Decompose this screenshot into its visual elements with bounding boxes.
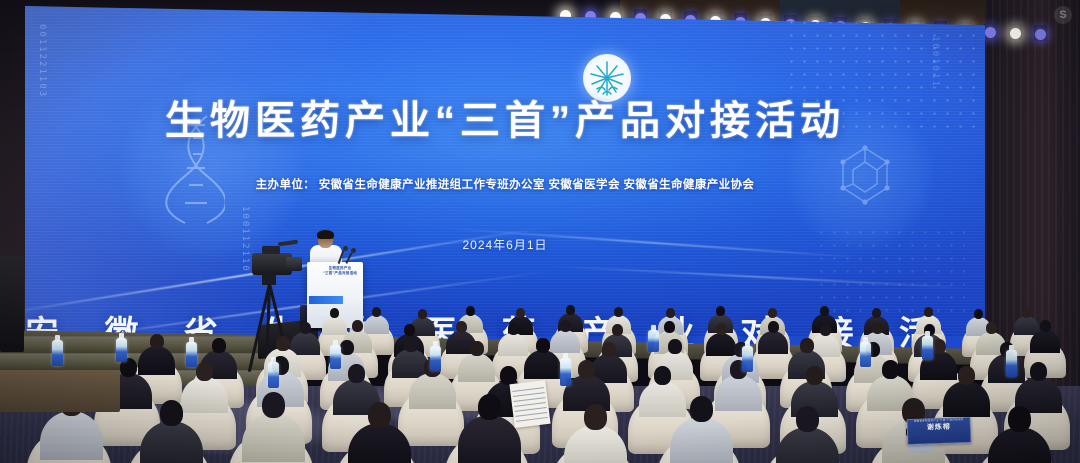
audience-member-head [352,320,363,332]
audience-member-head [820,324,831,336]
audience-member-torso [322,316,347,335]
audience-member-head [566,305,575,315]
audience-member-head [508,323,519,335]
audience-member-head [262,392,285,418]
handout-text-line [512,387,544,392]
audience-member-head [500,366,517,385]
handout-text-line [516,417,548,422]
audience-member-head [578,360,595,379]
audience-member-torso [409,373,456,409]
audience-member-head [800,338,814,353]
audience-member-head [872,322,883,334]
audience-member-head [418,309,427,319]
water-bottle [860,342,871,367]
audience-member-torso [1030,330,1060,353]
handout-text-line [514,402,546,407]
audience-member-head [668,339,682,354]
audience-member-head [560,320,571,332]
audience-member-head [404,337,418,352]
audience-member-head [666,308,675,318]
water-bottle [52,340,63,366]
audience-member-torso [458,353,495,382]
audience-member-head [340,340,354,355]
audience-member-head [820,306,829,316]
audience-member-torso [715,375,762,411]
audience-member-head [768,321,779,333]
audience-member-head [300,322,311,334]
audience-member-head [716,323,727,335]
audience-member-head [882,360,899,379]
audience-member-head [1022,308,1031,318]
audience-table [0,370,120,412]
conference-photo: 0011221103 100112110 1001011 [0,0,1080,463]
audience-member-head [614,307,623,317]
audience-member-head [368,402,391,428]
water-bottle [742,346,753,372]
water-bottle [922,336,933,360]
audience-member-torso [364,315,389,334]
water-bottle [186,342,197,367]
presenter-hair [317,230,334,239]
audience-member-head [872,308,881,318]
audience-member-head [196,362,213,381]
audience-member-head [516,308,525,318]
audience-member-torso [943,381,990,417]
water-bottle [330,345,341,369]
audience-member-head [466,306,475,316]
audience-member-head [690,396,713,422]
audience-member-torso [639,381,686,417]
audience-member-head [716,306,725,316]
audience-member-head [456,321,467,333]
audience-member-head [602,342,616,357]
handout-text-line [515,412,547,417]
audience-member-head [150,334,164,349]
audience-member-head [212,338,226,353]
audience-member-head [348,364,365,383]
audience-member-head [404,324,415,336]
water-bottle [560,358,571,386]
water-bottle [430,346,441,371]
audience-member-head [536,338,550,353]
audience-member-head [958,366,975,385]
audience-member-head [974,309,983,319]
audience-member-head [470,341,484,356]
audience-member-head [768,308,777,318]
audience-member-torso [138,346,175,375]
handout-text-line [513,392,545,397]
audience-member-head [478,394,501,420]
program-handout [509,380,550,428]
stage-light-blue [985,27,996,38]
water-bottle [268,362,279,388]
audience-member-head [986,322,997,334]
audience-member-head [664,321,675,333]
water-bottle [1006,350,1017,377]
audience-member-head [1040,320,1051,332]
audience-member-head [1030,362,1047,381]
handout-text-line [514,397,546,402]
water-bottle [648,330,659,352]
audience-member-torso [181,377,228,413]
watermark-badge: S [1054,6,1072,24]
stage-light-white [1010,28,1021,39]
audience-member-head [612,324,623,336]
audience-member-head [924,307,933,317]
handout-text-line [515,407,547,412]
name-placard: 安徽省生物医药产业“三首”产品对接活动 谢炼榕 [907,417,972,445]
water-bottle [116,338,127,362]
audience-member-head [276,336,290,351]
audience-member-head [160,400,183,426]
stage-light-blue [1035,29,1046,40]
audience-member-head [372,307,381,317]
audience-member-head [584,404,607,430]
audience-member-torso [290,332,320,355]
audience-member-head [1008,406,1031,432]
audience-member-head [806,366,823,385]
audience-member-head [654,366,671,385]
audience-member-head [330,308,339,318]
audience-member-head [796,406,819,432]
audience-member-head [932,339,946,354]
